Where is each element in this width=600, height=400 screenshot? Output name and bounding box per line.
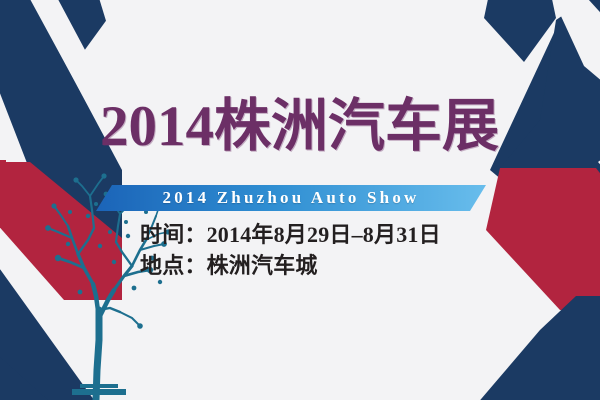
- auto-show-poster: 2014株洲汽车展 2014 Zhuzhou Auto Show 时间：2014…: [0, 0, 600, 400]
- poster-content: 2014株洲汽车展 2014 Zhuzhou Auto Show 时间：2014…: [0, 0, 600, 400]
- page-title: 2014株洲汽车展: [100, 92, 499, 162]
- subtitle-banner: 2014 Zhuzhou Auto Show: [96, 185, 486, 211]
- subtitle-text: 2014 Zhuzhou Auto Show: [96, 185, 486, 211]
- event-place-line: 地点：株洲汽车城: [140, 248, 318, 280]
- event-time-line: 时间：2014年8月29日–8月31日: [140, 217, 441, 249]
